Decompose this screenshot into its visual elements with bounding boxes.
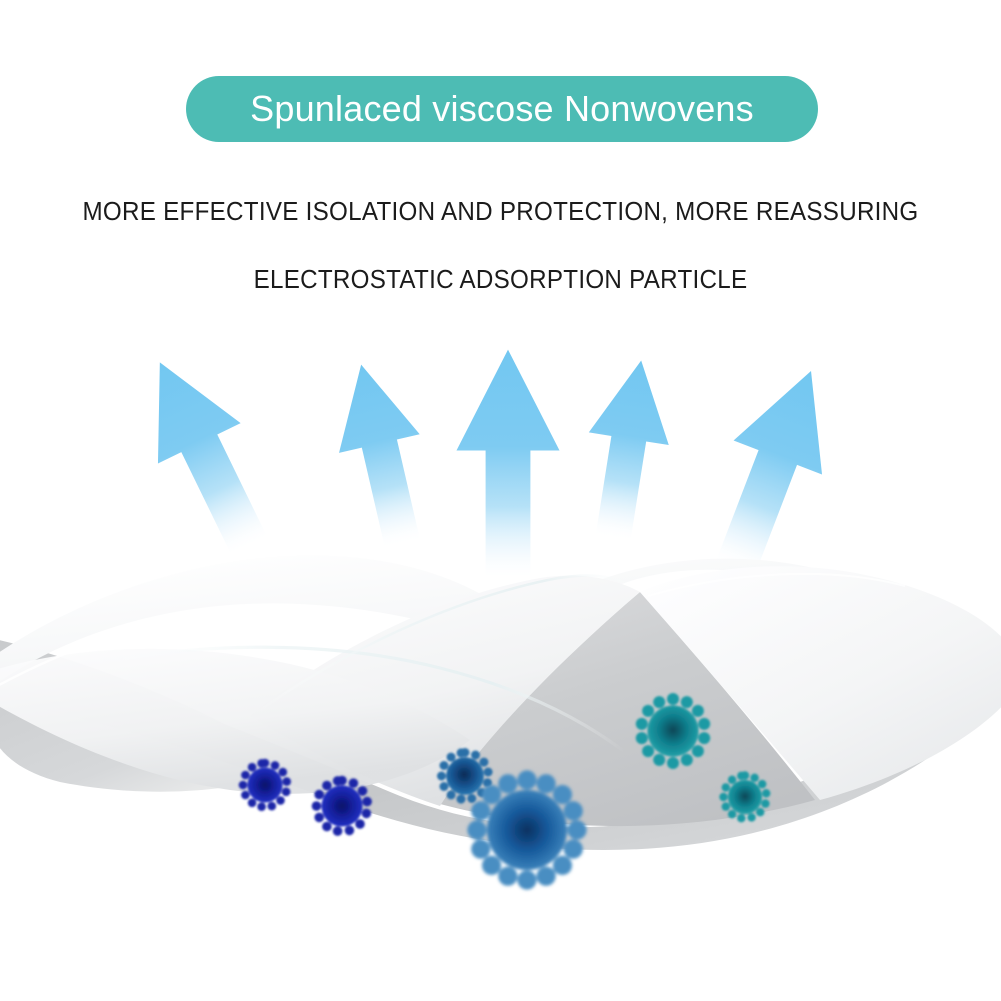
title-pill: Spunlaced viscose Nonwovens xyxy=(186,76,818,142)
airflow-arrow-1 xyxy=(119,342,292,567)
airflow-arrow-2 xyxy=(321,355,443,554)
virus-particle-steel-blue-large xyxy=(467,770,586,889)
airflow-arrow-group xyxy=(119,342,856,586)
airflow-arrow-4 xyxy=(573,354,681,546)
page-title: Spunlaced viscose Nonwovens xyxy=(250,91,754,127)
subtitle-line-2: ELECTROSTATIC ADSORPTION PARTICLE xyxy=(35,264,966,295)
airflow-arrow-3 xyxy=(456,350,559,581)
fabric-filtration-illustration xyxy=(0,0,1001,1001)
subtitle-line-1: MORE EFFECTIVE ISOLATION AND PROTECTION,… xyxy=(35,196,966,227)
poster-canvas: Spunlaced viscose Nonwovens MORE EFFECTI… xyxy=(0,0,1001,1001)
airflow-arrow-5 xyxy=(691,354,856,586)
